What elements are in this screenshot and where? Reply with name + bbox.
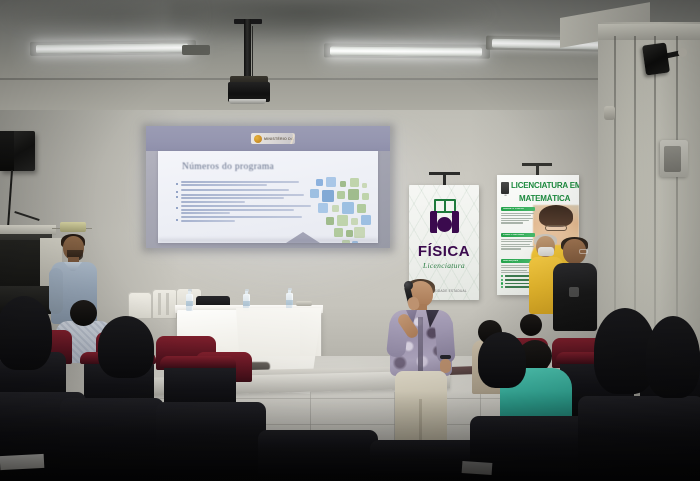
logo-emblem-icon [254, 135, 262, 143]
shirt-logo [569, 287, 579, 297]
bullet-text-lines [181, 194, 305, 204]
mosaic-square [357, 204, 366, 213]
bullet-text-line [181, 194, 305, 196]
water-bottle [243, 289, 250, 311]
wall-panel-seam [614, 36, 616, 336]
auditorium-seat [156, 402, 266, 481]
poster-body-line [501, 215, 531, 216]
bullet-text-lines [181, 216, 305, 223]
paper-sheet [462, 461, 493, 475]
list-bullet-icon [501, 282, 503, 284]
slide-bullet [176, 181, 304, 188]
mosaic-square [326, 177, 336, 187]
light-recess-dark [182, 45, 210, 55]
banner-pole [443, 172, 446, 186]
poster-body-line [501, 272, 532, 273]
slide-content-panel: Números do programa [158, 151, 378, 243]
wall-panel-seam [654, 36, 656, 336]
mosaic-square [332, 205, 339, 212]
poster-body-line [501, 218, 533, 219]
man-in-black-shirt [553, 239, 597, 331]
slide-bullet [176, 205, 304, 215]
object-on-table [296, 301, 312, 306]
slide-bullet [176, 189, 304, 193]
bullet-dot-icon [176, 219, 178, 221]
speaker-grille-left [0, 131, 14, 171]
poster-section-heading-text: INSCRIÇÕES [503, 260, 518, 262]
bottle-label [243, 301, 250, 306]
poster-title-line1: LICENCIATURA EM [511, 181, 579, 190]
seat-top-rail [160, 356, 236, 368]
poster-section-heading: SOBRE O CURSO [501, 207, 535, 211]
fluorescent-tube-left [36, 43, 188, 54]
mosaic-square [318, 203, 328, 213]
speaker-mount-knob [678, 48, 687, 57]
mosaic-square [334, 228, 343, 237]
bottle-label [186, 301, 193, 306]
black-shirt [553, 263, 597, 331]
auditorium-seat [258, 430, 378, 481]
poster-body-line [501, 248, 521, 249]
audience-silhouette [478, 332, 526, 388]
poster-section-heading-text: SOBRE O CURSO [503, 208, 524, 210]
bullet-text-lines [181, 205, 305, 215]
bullet-dot-icon [176, 207, 178, 209]
wall-lamp [604, 106, 615, 120]
white-chair-back [152, 289, 178, 319]
wall-panel-seam [634, 36, 636, 336]
poster-section: SOBRE O CURSO [501, 207, 535, 225]
mosaic-square [342, 202, 354, 214]
banner-subtitle: Licenciatura [409, 261, 479, 270]
book-spine-icon [444, 199, 446, 213]
mosaic-square [362, 183, 367, 188]
mosaic-square [361, 215, 371, 225]
bullet-dot-icon [176, 191, 178, 193]
mosaic-square [337, 215, 348, 226]
auditorium-seat [578, 396, 700, 481]
projector-cable [252, 26, 256, 82]
projection-screen: MINISTÉRIO DA EDUCAÇÃO Números do progra… [146, 126, 390, 248]
bullet-text-line [181, 189, 290, 191]
portrait-hair [539, 205, 573, 227]
ceiling-stain [170, 0, 500, 46]
mosaic-square [322, 190, 334, 202]
ceiling-stain-secondary [0, 0, 200, 40]
slide-bullet-list [176, 181, 304, 224]
white-chair-back [128, 292, 152, 319]
shirt-button-placket [418, 317, 423, 375]
bullet-text-line [181, 197, 285, 199]
bullet-text-lines [181, 189, 305, 192]
poster-body-line [501, 222, 523, 223]
poster-section-heading-text: COMO FUNCIONA [503, 234, 524, 236]
arm [49, 268, 63, 314]
mosaic-square [310, 189, 319, 198]
mosaic-square [340, 181, 346, 187]
bullet-dot-icon [176, 196, 178, 198]
fluorescent-tube-center [330, 46, 482, 56]
face-mask [538, 247, 554, 256]
bullet-text-line [181, 205, 312, 207]
mosaic-square [337, 191, 345, 199]
chair-slat [166, 293, 169, 315]
auditorium-seat [60, 398, 164, 481]
list-bullet-icon [501, 275, 503, 277]
poster-body-line [501, 265, 531, 266]
poster-body-line [501, 213, 534, 214]
audience-silhouette [646, 316, 700, 398]
wall-socket [60, 222, 86, 232]
banner-title: FÍSICA [409, 243, 479, 260]
projector-lens [229, 99, 266, 104]
audience-head [70, 300, 97, 326]
poster-body-line [501, 270, 527, 271]
logo-arc-left [430, 211, 437, 233]
bottle-label [286, 300, 293, 305]
bullet-text-line [181, 212, 230, 214]
bullet-text-lines [181, 181, 305, 188]
ministry-logo: MINISTÉRIO DA EDUCAÇÃO [251, 133, 295, 144]
logo-swoosh-icon [280, 133, 295, 144]
auditorium-photo: MINISTÉRIO DA EDUCAÇÃO Números do progra… [0, 0, 700, 481]
bullet-text-line [181, 220, 235, 222]
bullet-text-line [181, 184, 267, 186]
mosaic-square [354, 227, 365, 238]
logo-arc-right [452, 211, 459, 233]
poster-pole [536, 163, 539, 175]
audience-silhouette [98, 316, 154, 378]
poster-title-line2: MATEMÁTICA [519, 194, 579, 203]
mosaic-square [348, 189, 359, 200]
water-bottle [286, 288, 293, 310]
book-graduate-logo [430, 199, 459, 239]
slide-shadow [158, 239, 378, 244]
poster-body-line [501, 241, 532, 242]
bullet-text-line [181, 181, 300, 183]
bullet-dot-icon [176, 183, 178, 185]
slide-bullet [176, 194, 304, 204]
mosaic-square [362, 193, 369, 200]
mosaic-square [351, 218, 358, 225]
audience-silhouette [0, 296, 52, 370]
mosaic-square [316, 179, 323, 186]
glasses-icon [545, 225, 567, 231]
poster-body-line [501, 244, 530, 245]
chair-slat [158, 293, 161, 315]
paper-sheet [0, 454, 44, 470]
poster-list-item-label [505, 279, 529, 281]
bullet-text-line [181, 209, 295, 211]
poster-body-line [501, 220, 529, 221]
mosaic-square [326, 217, 334, 225]
mosaic-square [346, 230, 353, 237]
black-wall-speaker-right [642, 42, 670, 75]
ceiling-seam [0, 78, 700, 80]
mosaic-square [350, 178, 359, 187]
water-bottle [186, 289, 193, 311]
list-bullet-icon [501, 279, 503, 281]
logo-circle [437, 217, 452, 232]
slide-bullet [176, 216, 304, 223]
glasses-icon [579, 249, 588, 254]
institution-logo-icon [501, 182, 509, 194]
bullet-text-line [181, 201, 245, 203]
bullet-text-line [181, 216, 302, 218]
wall-panel-seam [676, 36, 678, 336]
slide-title: Números do programa [182, 162, 274, 172]
dispenser-window [664, 146, 681, 172]
institution-logo-text: UE [500, 195, 511, 198]
list-bullet-icon [501, 286, 503, 288]
audience-head [520, 314, 542, 336]
